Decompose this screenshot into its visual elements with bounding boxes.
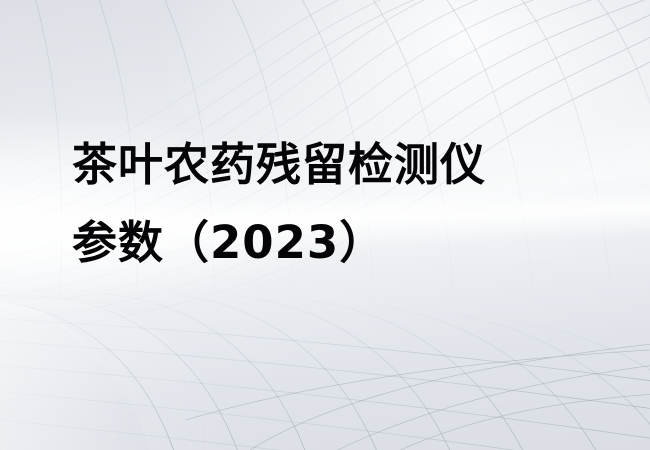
title-line-1: 茶叶农药残留检测仪 bbox=[72, 126, 612, 204]
title-line-2: 参数（2023） bbox=[72, 204, 612, 282]
poster-canvas: 茶叶农药残留检测仪 参数（2023） bbox=[0, 0, 650, 450]
title-block: 茶叶农药残留检测仪 参数（2023） bbox=[72, 126, 612, 282]
